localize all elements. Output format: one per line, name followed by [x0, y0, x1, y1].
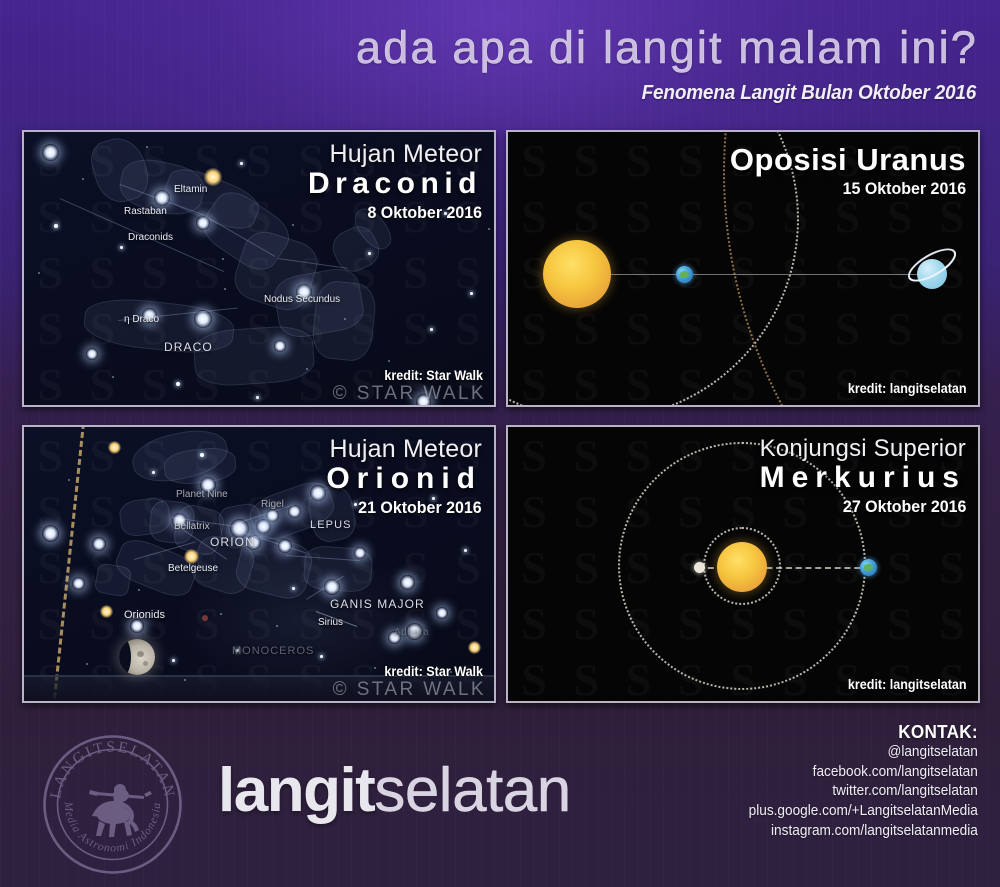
star-label-eltamin: Eltamin — [174, 184, 207, 195]
constellation-label-lepus: LEPUS — [310, 519, 352, 531]
panel-orionid[interactable]: SSSSSSSSS SSSSSSSSS SSSSSSSSS SSSSSSSSS … — [22, 425, 496, 703]
brand-bold-part: langit — [218, 756, 374, 825]
panel-heading-small: Hujan Meteor — [308, 142, 482, 167]
panel-heading-draconid: Hujan Meteor Draconid 8 Oktober 2016 — [308, 142, 482, 224]
panel-konjungsi-merkurius[interactable]: SSSSSSSSS SSSSSSSSS SSSSSSSSS SSSSSSSSS … — [506, 425, 980, 703]
gibbous-moon-icon — [119, 639, 155, 675]
star-label-rigel: Rigel — [261, 499, 284, 510]
opposition-sight-line — [597, 274, 919, 275]
panel-date: 15 Oktober 2016 — [744, 178, 966, 201]
page-subtitle: Fenomena Langit Bulan Oktober 2016 — [641, 82, 976, 105]
panel-date: 8 Oktober 2016 — [318, 202, 482, 225]
mercury-icon — [694, 562, 705, 573]
panel-heading-big: Draconid — [308, 167, 482, 202]
panel-heading-big: Oposisi Uranus — [730, 142, 966, 178]
panel-date: 27 Oktober 2016 — [772, 496, 966, 519]
star-label-nodus-secundus: Nodus Secundus — [264, 294, 340, 305]
label-planet-nine: Planet Nine — [176, 489, 228, 500]
langitselatan-seal-logo: LANGITSELATAN #Media Astronomi Indonesia… — [40, 732, 185, 877]
earth-icon — [860, 559, 877, 576]
star-label-bellatrix: Bellatrix — [174, 521, 210, 532]
contact-block: KONTAK: @langitselatan facebook.com/lang… — [734, 722, 978, 842]
contact-instagram[interactable]: instagram.com/langitselatanmedia — [749, 822, 978, 842]
svg-text:LANGITSELATAN: LANGITSELATAN — [47, 738, 178, 800]
label-orionids-radiant: Orionids — [124, 609, 165, 621]
panel-credit: kredit: Star Walk — [384, 368, 483, 383]
contact-googleplus[interactable]: plus.google.com/+LangitselatanMedia — [749, 802, 978, 822]
panel-heading-uranus: Oposisi Uranus 15 Oktober 2016 — [730, 142, 966, 201]
panel-heading-merkurius: Konjungsi Superior Merkurius 27 Oktober … — [760, 437, 966, 518]
poster-footer: LANGITSELATAN #Media Astronomi Indonesia… — [0, 712, 1000, 887]
constellation-label-monoceros: MONOCEROS — [232, 645, 314, 657]
panel-heading-small: Hujan Meteor — [326, 437, 482, 462]
constellation-label-canis-major: GANIS MAJOR — [330, 597, 425, 611]
panel-draconid[interactable]: SSSSSSSSS SSSSSSSSS SSSSSSSSS SSSSSSSSS … — [22, 130, 496, 407]
contact-twitter[interactable]: twitter.com/langitselatan — [749, 782, 978, 802]
panel-credit: kredit: langitselatan — [848, 381, 967, 396]
brand-light-part: selatan — [374, 756, 570, 825]
brand-wordmark: langitselatan — [218, 760, 571, 822]
label-draconids-radiant: Draconids — [128, 232, 173, 243]
star-label-rastaban: Rastaban — [124, 206, 167, 217]
panel-credit: kredit: langitselatan — [848, 677, 967, 692]
panel-oposisi-uranus[interactable]: SSSSSSSSS SSSSSSSSS SSSSSSSSS SSSSSSSSS … — [506, 130, 980, 407]
contact-handle[interactable]: @langitselatan — [749, 743, 978, 763]
constellation-label-draco: DRACO — [164, 340, 213, 354]
contact-facebook[interactable]: facebook.com/langitselatan — [749, 763, 978, 783]
star-label-betelgeuse: Betelgeuse — [168, 563, 218, 574]
page-title: ada apa di langit malam ini? — [356, 22, 978, 74]
infographic-poster: ada apa di langit malam ini? Fenomena La… — [0, 0, 1000, 887]
panel-heading-orionid: Hujan Meteor Orionid 21 Oktober 2016 — [326, 437, 482, 519]
star-label-adhara: Adhara — [394, 627, 429, 638]
panel-heading-big: Orionid — [326, 462, 482, 497]
starwalk-watermark: © STAR WALK — [333, 679, 486, 701]
poster-header: ada apa di langit malam ini? Fenomena La… — [0, 0, 1000, 120]
panel-heading-big: Merkurius — [760, 461, 966, 496]
panel-heading-small: Konjungsi Superior — [760, 437, 966, 461]
panel-credit: kredit: Star Walk — [384, 664, 483, 679]
starwalk-watermark: © STAR WALK — [333, 383, 486, 405]
sun-icon — [717, 542, 767, 592]
panel-date: 21 Oktober 2016 — [336, 497, 482, 520]
constellation-label-orion: ORION — [210, 535, 255, 549]
star-label-eta-draco: η Draco — [124, 314, 159, 325]
star-label-sirius: Sirius — [318, 617, 343, 628]
sun-icon — [543, 240, 611, 308]
contact-heading: KONTAK: — [746, 722, 978, 743]
earth-icon — [676, 266, 693, 283]
